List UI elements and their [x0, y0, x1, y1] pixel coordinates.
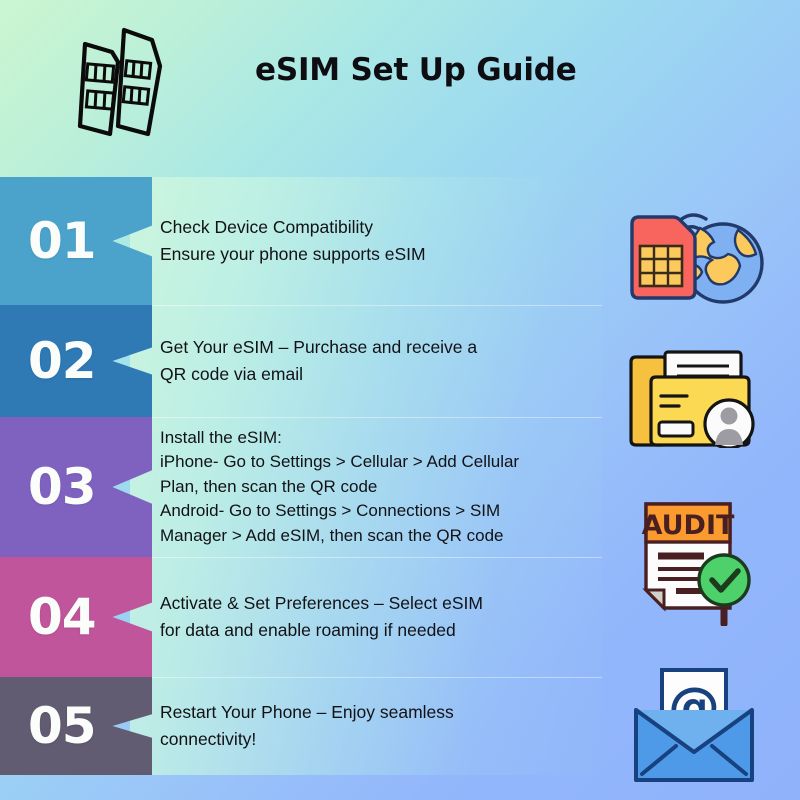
step-line: Plan, then scan the QR code	[160, 475, 570, 499]
page-title: eSIM Set Up Guide	[255, 52, 577, 88]
dual-sim-cards-icon	[60, 22, 180, 142]
step-line: QR code via email	[160, 361, 570, 388]
step-badge-03[interactable]: 03	[0, 417, 152, 557]
step-line: Activate & Set Preferences – Select eSIM	[160, 590, 570, 617]
step-line: Manager > Add eSIM, then scan the QR cod…	[160, 524, 570, 548]
step-number-02: 02	[28, 336, 96, 386]
step-row-03: 03 Install the eSIM: iPhone- Go to Setti…	[0, 417, 602, 557]
divider	[152, 557, 602, 558]
folder-document-user-icon	[625, 346, 767, 448]
step-text-05: Restart Your Phone – Enjoy seamless conn…	[160, 677, 570, 775]
step-text-01: Check Device Compatibility Ensure your p…	[160, 177, 570, 305]
divider	[152, 417, 602, 418]
step-number-03: 03	[28, 462, 96, 512]
step-badge-04[interactable]: 04	[0, 557, 152, 677]
step-line: Check Device Compatibility	[160, 214, 570, 241]
email-envelope-at-icon: @	[632, 668, 756, 786]
step-badge-05[interactable]: 05	[0, 677, 152, 775]
step-line: Get Your eSIM – Purchase and receive a	[160, 334, 570, 361]
step-line: Ensure your phone supports eSIM	[160, 241, 570, 268]
audit-document-check-icon: AUDIT	[626, 496, 766, 626]
step-line: connectivity!	[160, 726, 570, 753]
infographic-poster: eSIM Set Up Guide 01 Check Device Compat…	[0, 0, 800, 800]
divider	[152, 305, 602, 306]
step-badge-01[interactable]: 01	[0, 177, 152, 305]
step-row-04: 04 Activate & Set Preferences – Select e…	[0, 557, 602, 677]
audit-label: AUDIT	[642, 510, 735, 541]
step-text-04: Activate & Set Preferences – Select eSIM…	[160, 557, 570, 677]
step-number-01: 01	[28, 216, 96, 266]
step-row-05: 05 Restart Your Phone – Enjoy seamless c…	[0, 677, 602, 775]
step-number-05: 05	[28, 701, 96, 751]
step-text-03: Install the eSIM: iPhone- Go to Settings…	[160, 417, 570, 557]
step-badge-02[interactable]: 02	[0, 305, 152, 417]
sim-card-globe-icon	[620, 196, 770, 308]
step-line: Android- Go to Settings > Connections > …	[160, 499, 570, 523]
poster-header: eSIM Set Up Guide	[0, 0, 800, 175]
step-line: Install the eSIM:	[160, 426, 570, 450]
step-line: iPhone- Go to Settings > Cellular > Add …	[160, 450, 570, 474]
step-line: Restart Your Phone – Enjoy seamless	[160, 699, 570, 726]
step-line: for data and enable roaming if needed	[160, 617, 570, 644]
step-text-02: Get Your eSIM – Purchase and receive a Q…	[160, 305, 570, 417]
divider	[152, 677, 602, 678]
step-number-04: 04	[28, 592, 96, 642]
step-row-01: 01 Check Device Compatibility Ensure you…	[0, 177, 602, 305]
step-row-02: 02 Get Your eSIM – Purchase and receive …	[0, 305, 602, 417]
